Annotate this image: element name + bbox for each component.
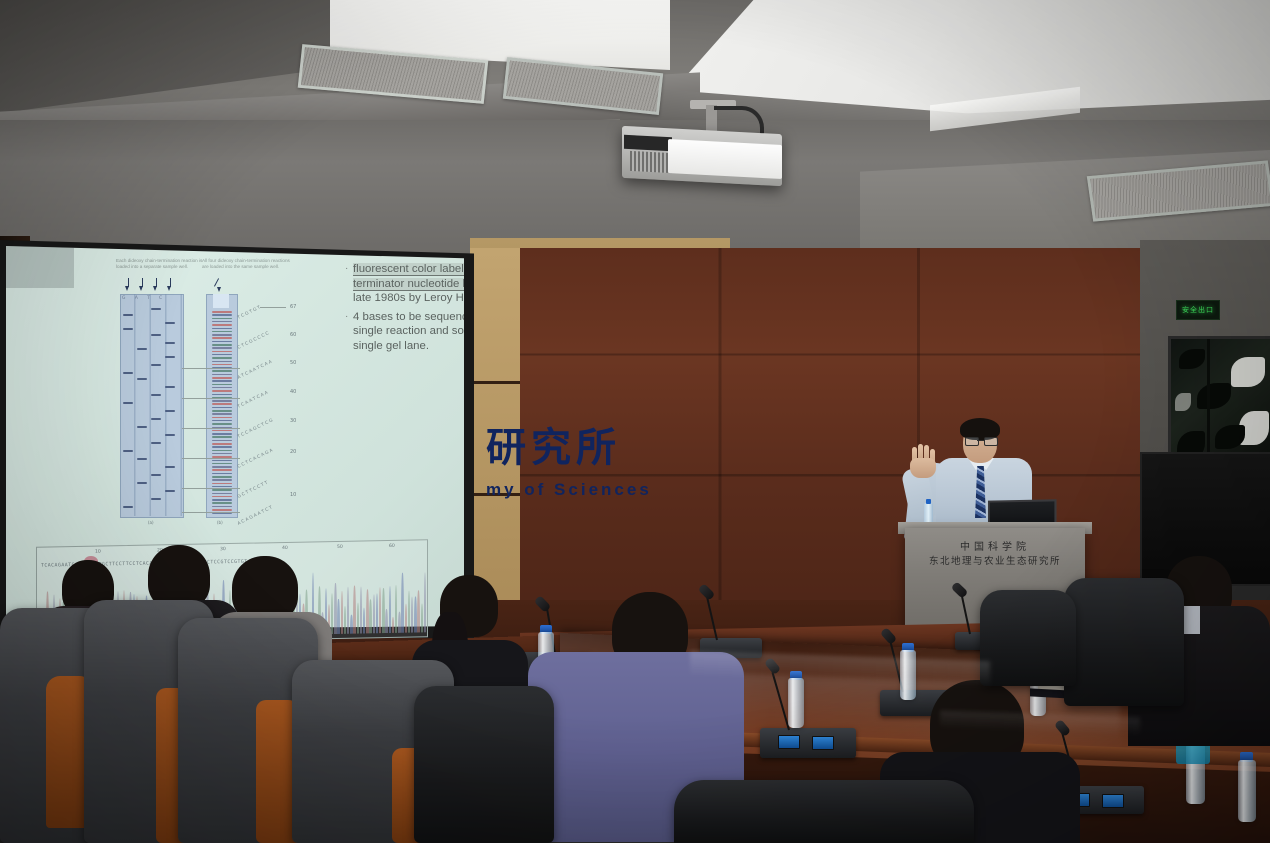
gel-band: [212, 314, 232, 316]
gel-band: [212, 450, 232, 452]
gel-band: [212, 489, 232, 491]
bullet-marker: ·: [345, 310, 353, 354]
gel-band: [212, 502, 232, 504]
chromatogram-peak: [389, 586, 391, 633]
gel-band: [212, 463, 232, 465]
gel-band: [212, 407, 232, 409]
gel-band: [212, 390, 232, 392]
gel-band: [212, 440, 232, 442]
position-label: 50: [290, 360, 296, 366]
gel-sample-well: [213, 294, 229, 308]
sequence-callout: C T C G C C C C: [237, 331, 270, 351]
panel-a-label: (a): [148, 520, 154, 525]
position-label: 30: [290, 418, 296, 424]
plant-leaf-icon: [1197, 383, 1231, 409]
bullet-text: 4 bases to be sequenced in a single reac…: [353, 310, 464, 354]
gel-band: [212, 331, 232, 333]
gel-band: [212, 357, 232, 359]
position-label: 40: [290, 389, 296, 395]
gel-band: [212, 466, 232, 468]
chromatogram-peak: [417, 590, 419, 632]
plant-leaf-icon: [1179, 349, 1205, 369]
gel-band: [212, 380, 232, 382]
gel-band: [212, 417, 232, 419]
chromatogram-peak: [347, 587, 349, 634]
sequence-callout: A T C A A T C A A: [237, 360, 273, 381]
exit-sign-label: 安全出口: [1182, 305, 1214, 315]
position-label: 20: [290, 449, 296, 455]
chromatogram-peak: [379, 587, 381, 633]
chromatogram-peak: [334, 583, 336, 635]
gel-band: [212, 374, 232, 376]
bullet-text: fluorescent color labels for the 4 termi…: [353, 262, 464, 306]
conference-chair[interactable]: [980, 590, 1076, 686]
gel-band: [212, 344, 232, 346]
projector-vent-panel: [624, 135, 672, 152]
wall-institute-sign: 研究所 my of Sciences: [486, 424, 756, 500]
podium-sign: 中国科学院 东北地理与农业生态研究所: [905, 540, 1085, 569]
chromatogram-peak: [405, 603, 407, 632]
chromatogram-peak: [385, 609, 387, 633]
gel-band: [212, 410, 232, 412]
projector-grille: [630, 151, 672, 173]
chromatogram-peak: [369, 600, 371, 634]
chromatogram-peak: [366, 589, 368, 633]
chromatogram-peak: [408, 590, 410, 632]
gel-band: [212, 354, 232, 356]
chromatogram-peak: [421, 603, 423, 632]
podium-sign-line1: 中国科学院: [905, 540, 1085, 555]
gel-band: [212, 387, 232, 389]
wall-sign-chinese: 研究所: [486, 424, 756, 472]
bullet-highlight-text: fluorescent color labels for the 4 termi…: [353, 263, 464, 291]
gel-band: [212, 413, 232, 415]
chromatogram-peak: [424, 572, 426, 632]
window-light-patch: [1231, 357, 1265, 387]
chromatogram-peak: [344, 606, 346, 634]
slide-bullet-item: · fluorescent color labels for the 4 ter…: [345, 262, 464, 306]
sequence-callout: G C T T C C T T: [237, 481, 269, 500]
gel-band: [212, 473, 232, 475]
chromatogram-peak: [350, 614, 352, 634]
gel-band: [212, 509, 232, 511]
gel-band: [212, 479, 232, 481]
gel-band: [212, 506, 232, 508]
gel-band: [212, 341, 232, 343]
gel-band: [212, 324, 232, 326]
gel-band: [212, 453, 232, 455]
gel-band: [212, 351, 232, 353]
gel-band: [212, 328, 232, 330]
position-label: 10: [290, 492, 296, 498]
gel-band: [212, 460, 232, 462]
podium-sign-line2: 东北地理与农业生态研究所: [905, 555, 1085, 569]
sequence-callout: A C A G A A T C T: [237, 506, 273, 527]
diagram-caption-left: Each dideoxy chain-termination reaction …: [116, 258, 208, 269]
gel-band: [212, 433, 232, 435]
chromatogram-peak: [401, 573, 403, 633]
conference-chair[interactable]: [674, 780, 974, 843]
screen-shadow: [6, 246, 74, 288]
gel-band: [212, 361, 232, 363]
chromatogram-peak: [414, 596, 416, 632]
gel-band: [212, 364, 232, 366]
gel-band: [212, 403, 232, 405]
chromatogram-peak: [392, 617, 394, 633]
chromatogram-peak: [353, 586, 355, 634]
gel-band: [212, 337, 232, 339]
chromatogram-peak: [331, 593, 333, 634]
chromatogram-tick: 40: [282, 546, 288, 551]
gel-band: [212, 321, 232, 323]
chromatogram-tick: 10: [95, 550, 101, 555]
conference-chair[interactable]: [1064, 578, 1184, 706]
conference-chair[interactable]: [414, 686, 554, 843]
gel-band: [212, 436, 232, 438]
panel-b-label: (b): [217, 520, 223, 525]
chromatogram-tick: 30: [220, 547, 226, 552]
position-label: 67: [290, 304, 296, 310]
gel-band: [212, 420, 232, 422]
diagram-caption-right: All four dideoxy chain-termination react…: [202, 258, 294, 269]
gel-band: [212, 394, 232, 396]
chromatogram-peak: [373, 594, 375, 633]
gel-band: [212, 370, 232, 372]
sequence-callout: T C A A T C A A: [237, 391, 269, 410]
gel-band: [212, 446, 232, 448]
projector-lens-icon: [668, 139, 782, 179]
gel-band: [212, 347, 232, 349]
gel-band: [212, 499, 232, 501]
slide-bullet-item: · 4 bases to be sequenced in a single re…: [345, 310, 464, 354]
chromatogram-peak: [337, 599, 339, 634]
chromatogram-peak: [398, 612, 400, 633]
chromatogram-tick: 50: [337, 545, 343, 550]
chromatogram-peak: [382, 588, 384, 633]
gel-band: [212, 443, 232, 445]
window-light-patch: [1175, 393, 1191, 411]
gel-band: [212, 377, 232, 379]
gel-band: [212, 318, 232, 320]
gel-band: [212, 469, 232, 471]
chromatogram-tick: 60: [389, 544, 395, 549]
chromatogram-peak: [341, 591, 343, 634]
gel-band: [212, 483, 232, 485]
gel-band: [212, 496, 232, 498]
gel-band: [212, 430, 232, 432]
wall-sign-english: my of Sciences: [486, 480, 756, 500]
gel-band: [212, 493, 232, 495]
gel-band: [212, 311, 232, 313]
chromatogram-peak: [395, 585, 397, 633]
gel-band: [212, 400, 232, 402]
chromatogram-peak: [363, 608, 365, 634]
sequence-callout: T C C A G C T C G: [237, 418, 274, 439]
chromatogram-peak: [376, 593, 378, 633]
sequence-callout: C C T C A C A G A: [237, 448, 274, 469]
gel-band: [212, 476, 232, 478]
gel-band: [212, 423, 232, 425]
gel-band: [212, 384, 232, 386]
conference-room-photo: 研究所 my of Sciences 安全出口 Each dideoxy cha…: [0, 0, 1270, 843]
chromatogram-peak: [360, 586, 362, 633]
position-label: 60: [290, 332, 296, 338]
gel-panel-b: [206, 294, 238, 518]
chromatogram-peak: [357, 602, 359, 633]
bullet-marker: ·: [345, 262, 353, 306]
plant-leaf-icon: [1215, 425, 1245, 449]
slide-bullet-list: · fluorescent color labels for the 4 ter…: [345, 262, 464, 358]
exit-sign: 安全出口: [1176, 300, 1220, 320]
gel-lane-headers: GATC: [122, 296, 182, 301]
chromatogram-peak: [411, 596, 413, 632]
sequence-callout: T C G T G T: [237, 305, 262, 320]
glasses-icon: [965, 437, 996, 444]
gel-band: [212, 334, 232, 336]
